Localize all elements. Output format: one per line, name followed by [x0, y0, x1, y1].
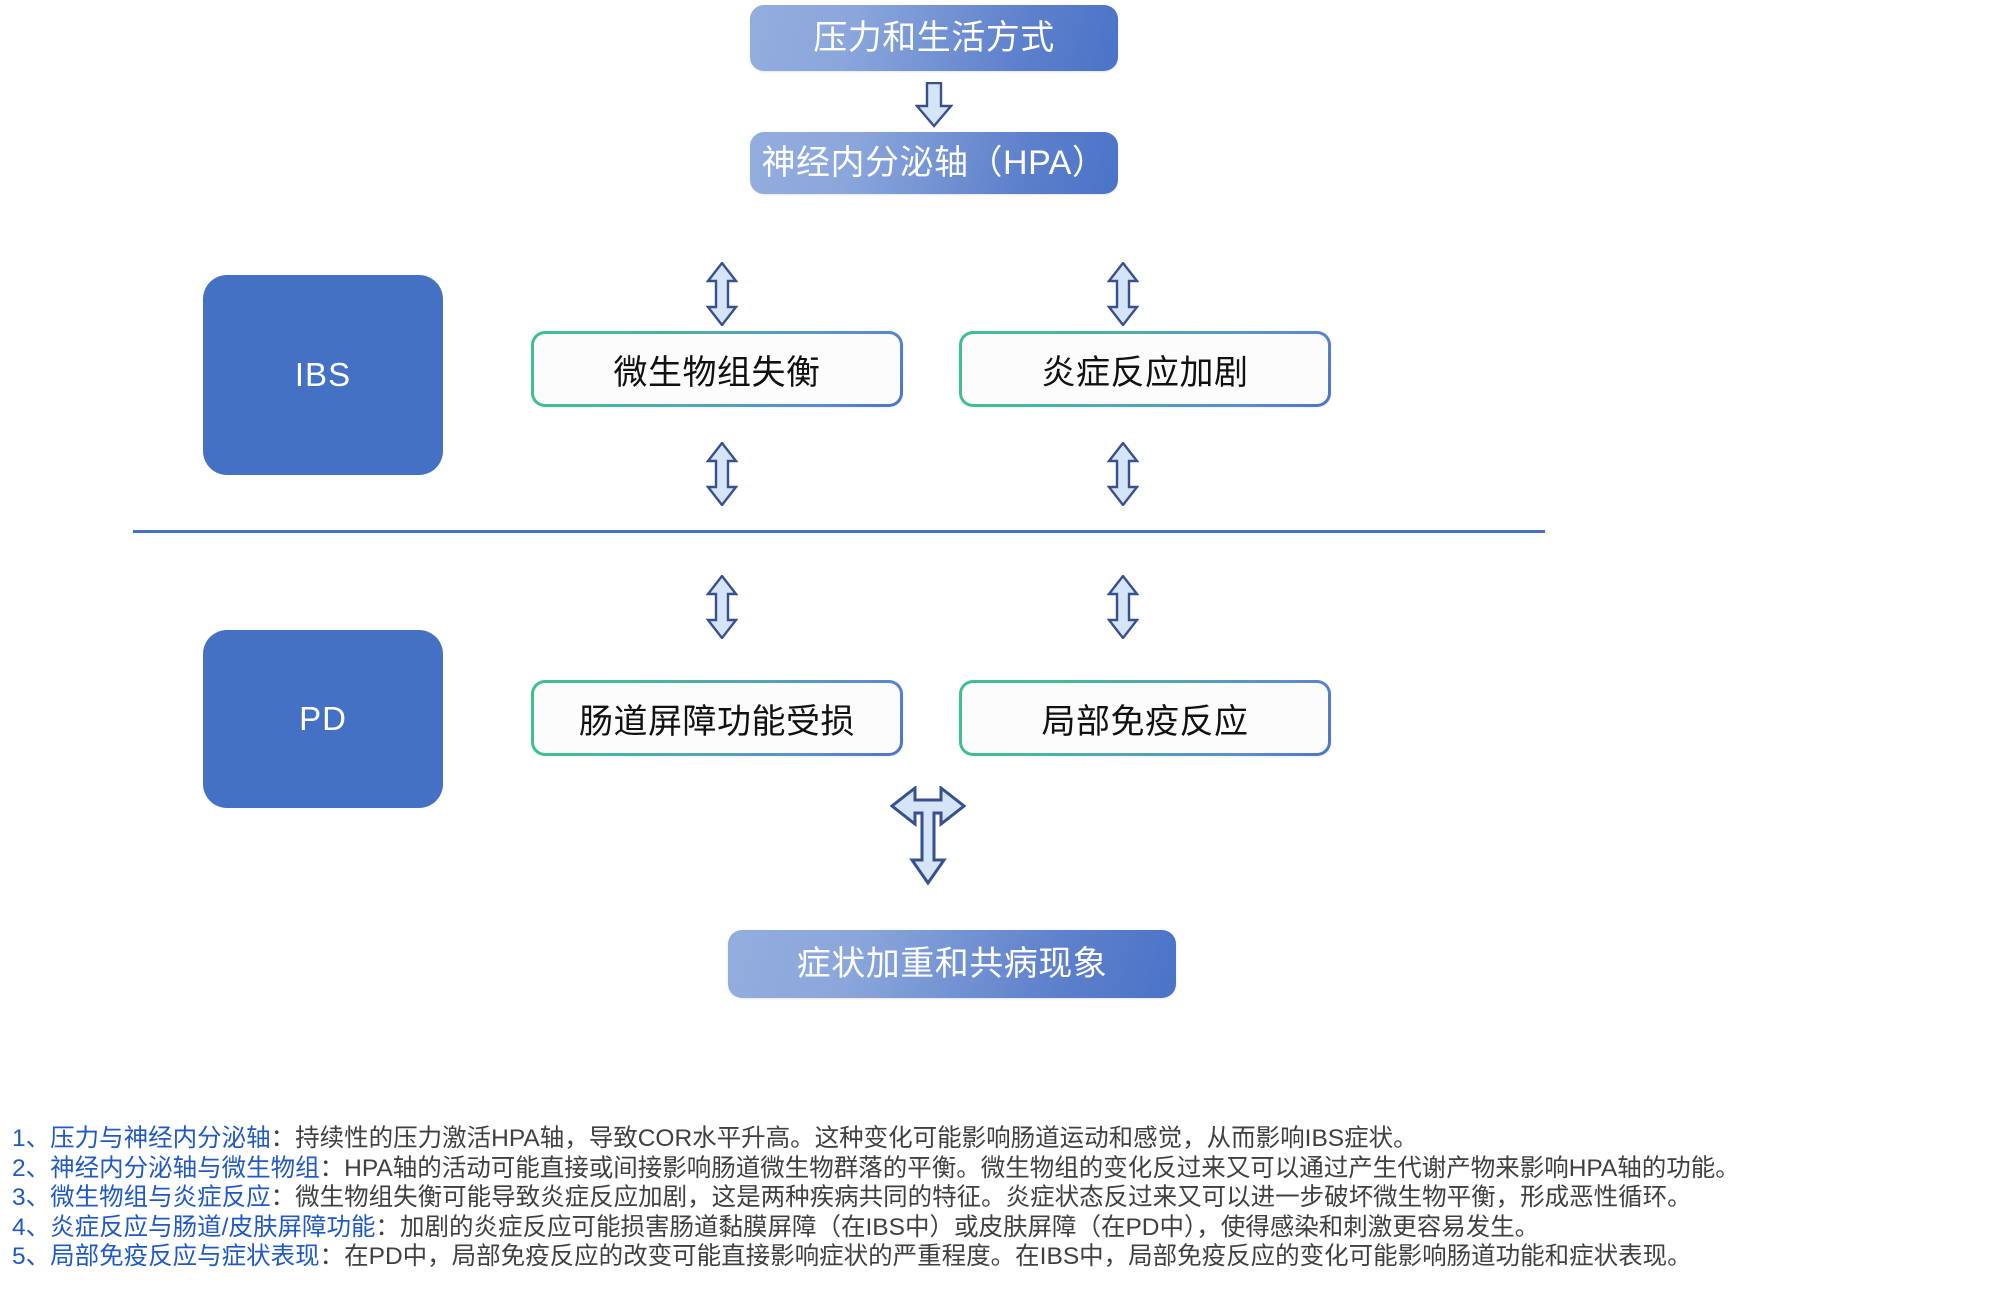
footnote-key: 局部免疫反应与症状表现: [50, 1243, 320, 1270]
node-microbiome-imbalance-label: 微生物组失衡: [614, 345, 821, 394]
down-arrow-icon: [915, 82, 953, 128]
footnote-body: ：在PD中，局部免疫反应的改变可能直接影响症状的严重程度。在IBS中，局部免疫反…: [320, 1243, 1692, 1270]
footnote-body: ：HPA轴的活动可能直接或间接影响肠道微生物群落的平衡。微生物组的变化反过来又可…: [320, 1155, 1740, 1182]
group-label-pd-text: PD: [299, 700, 347, 738]
double-headed-vertical-arrow-icon: [1107, 262, 1139, 326]
neuroendocrine-hpa-label: 神经内分泌轴（HPA）: [762, 146, 1107, 180]
diagram-canvas: 压力和生活方式 神经内分泌轴（HPA） IBS 微生物组失衡 炎症反应加剧: [0, 0, 2000, 1310]
node-local-immune-response[interactable]: 局部免疫反应: [959, 680, 1331, 756]
footnote-item: 2、神经内分泌轴与微生物组：HPA轴的活动可能直接或间接影响肠道微生物群落的平衡…: [12, 1154, 2000, 1184]
footnote-index: 4、: [12, 1214, 50, 1241]
footnote-index: 2、: [12, 1155, 50, 1182]
footnote-key: 神经内分泌轴与微生物组: [50, 1155, 320, 1182]
node-local-immune-response-inner: 局部免疫反应: [962, 683, 1328, 753]
footnote-item: 4、炎症反应与肠道/皮肤屏障功能：加剧的炎症反应可能损害肠道黏膜屏障（在IBS中…: [12, 1213, 2000, 1243]
double-headed-vertical-arrow-icon: [706, 262, 738, 326]
tri-directional-arrow-icon: [890, 786, 966, 886]
footnote-index: 5、: [12, 1243, 50, 1270]
footnote-index: 1、: [12, 1125, 50, 1152]
footnote-key: 压力与神经内分泌轴: [50, 1125, 271, 1152]
node-microbiome-imbalance[interactable]: 微生物组失衡: [531, 331, 903, 407]
group-label-ibs-text: IBS: [295, 356, 351, 394]
stress-lifestyle-box[interactable]: 压力和生活方式: [750, 5, 1118, 71]
section-divider: [133, 530, 1545, 533]
footnote-body: ：加剧的炎症反应可能损害肠道黏膜屏障（在IBS中）或皮肤屏障（在PD中），使得感…: [375, 1214, 1539, 1241]
footnote-body: ：持续性的压力激活HPA轴，导致COR水平升高。这种变化可能影响肠道运动和感觉，…: [271, 1125, 1418, 1152]
footnote-key: 炎症反应与肠道/皮肤屏障功能: [50, 1214, 375, 1241]
footnote-body: ：微生物组失衡可能导致炎症反应加剧，这是两种疾病共同的特征。炎症状态反过来又可以…: [271, 1184, 1692, 1211]
footnote-item: 1、压力与神经内分泌轴：持续性的压力激活HPA轴，导致COR水平升高。这种变化可…: [12, 1124, 2000, 1154]
double-headed-vertical-arrow-icon: [706, 575, 738, 639]
node-inflammation-increase-label: 炎症反应加剧: [1042, 345, 1249, 394]
footnotes-list: 1、压力与神经内分泌轴：持续性的压力激活HPA轴，导致COR水平升高。这种变化可…: [12, 1124, 2000, 1272]
outcome-box-label: 症状加重和共病现象: [797, 947, 1108, 981]
double-headed-vertical-arrow-icon: [706, 442, 738, 506]
group-label-ibs[interactable]: IBS: [203, 275, 443, 475]
node-microbiome-imbalance-inner: 微生物组失衡: [534, 334, 900, 404]
double-headed-vertical-arrow-icon: [1107, 442, 1139, 506]
footnote-index: 3、: [12, 1184, 50, 1211]
node-gut-barrier-damage-inner: 肠道屏障功能受损: [534, 683, 900, 753]
stress-lifestyle-label: 压力和生活方式: [813, 21, 1055, 55]
node-gut-barrier-damage[interactable]: 肠道屏障功能受损: [531, 680, 903, 756]
footnote-key: 微生物组与炎症反应: [50, 1184, 271, 1211]
double-headed-vertical-arrow-icon: [1107, 575, 1139, 639]
neuroendocrine-hpa-box[interactable]: 神经内分泌轴（HPA）: [750, 132, 1118, 194]
footnote-item: 3、微生物组与炎症反应：微生物组失衡可能导致炎症反应加剧，这是两种疾病共同的特征…: [12, 1183, 2000, 1213]
outcome-box[interactable]: 症状加重和共病现象: [728, 930, 1176, 998]
footnote-item: 5、局部免疫反应与症状表现：在PD中，局部免疫反应的改变可能直接影响症状的严重程…: [12, 1242, 2000, 1272]
node-inflammation-increase-inner: 炎症反应加剧: [962, 334, 1328, 404]
node-inflammation-increase[interactable]: 炎症反应加剧: [959, 331, 1331, 407]
node-local-immune-response-label: 局部免疫反应: [1042, 694, 1249, 743]
node-gut-barrier-damage-label: 肠道屏障功能受损: [579, 694, 855, 743]
group-label-pd[interactable]: PD: [203, 630, 443, 808]
